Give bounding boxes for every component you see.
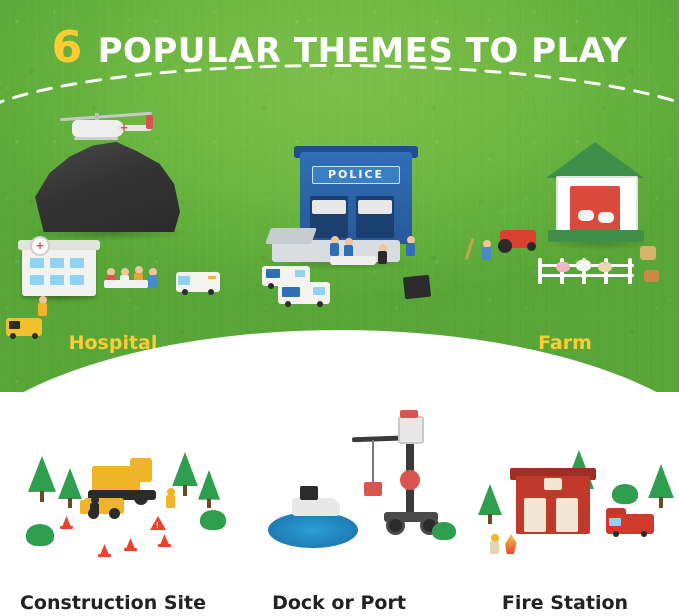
toy-boat (292, 498, 340, 516)
helicopter-body (72, 120, 124, 137)
hospital-window (50, 275, 64, 285)
toy-goat (598, 262, 612, 272)
toy-tree (198, 470, 220, 508)
hospital-stretcher (104, 280, 148, 288)
toy-boat-cabin (300, 486, 318, 500)
hospital-building (22, 248, 96, 296)
toy-bush (612, 484, 638, 504)
hospital-window (70, 258, 84, 268)
toy-bush (200, 510, 226, 530)
traffic-cone-base (124, 548, 137, 551)
traffic-cone-base (98, 554, 111, 557)
ambulance-van (176, 272, 220, 292)
traffic-cone-base (60, 526, 73, 529)
crane-hook (364, 482, 382, 496)
toy-figure (38, 296, 47, 316)
fire-truck (606, 514, 654, 534)
toy-tree (478, 484, 502, 524)
barn-door (570, 186, 620, 234)
barn-base (548, 230, 644, 242)
crane-operator-cab (398, 416, 424, 444)
crane-cab-roof (400, 410, 418, 418)
headline-text: POPULAR THEMES TO PLAY (98, 31, 628, 71)
crane-wheel (386, 516, 405, 535)
police-van (278, 282, 330, 304)
crane-counterweight (400, 470, 420, 490)
helicopter-skid (74, 137, 118, 140)
toy-dog (644, 270, 659, 282)
toy-horse (640, 246, 656, 260)
police-crate (403, 275, 431, 300)
theme-label-construction-site: Construction Site (0, 592, 226, 614)
toy-sheep (576, 260, 591, 271)
police-barrier (330, 256, 376, 265)
toy-figure (148, 268, 157, 288)
toy-figure-worker (166, 488, 175, 508)
toy-tractor (500, 230, 536, 248)
police-sign: POLICE (312, 166, 400, 184)
toy-figure-police (378, 244, 387, 264)
fire-station-bay-door (524, 498, 546, 532)
page-title: 6 POPULAR THEMES TO PLAY (0, 22, 679, 73)
hospital-window (30, 275, 44, 285)
toy-pig (556, 262, 570, 272)
hospital-window (30, 258, 44, 268)
hospital-window (50, 258, 64, 268)
toy-figure-firefighter (490, 534, 499, 554)
warning-sign-label: ! (156, 521, 159, 530)
toy-figure-police (406, 236, 415, 256)
toy-figure-police (330, 236, 339, 256)
medical-cross-icon: + (118, 122, 130, 134)
toy-bush (26, 524, 54, 546)
hospital-cross-icon: + (30, 236, 50, 256)
traffic-cone-base (158, 544, 171, 547)
headline-number: 6 (52, 22, 98, 73)
police-station-ramp (265, 228, 317, 244)
product-lifestyle-image: + + (0, 0, 679, 616)
theme-label-dock-or-port: Dock or Port (226, 592, 452, 614)
toy-tree (28, 456, 56, 502)
toy-figure-worker (90, 496, 99, 516)
toy-sheep (598, 212, 614, 223)
toy-tree (648, 464, 674, 508)
toy-sheep (578, 210, 594, 221)
toy-figure-police (344, 238, 353, 258)
helicopter-tail-fin (146, 115, 153, 129)
hospital-window (70, 275, 84, 285)
crane-hook-line (372, 440, 374, 484)
toy-tree (172, 452, 198, 496)
fire-station-window (544, 478, 562, 490)
dock-water (268, 512, 358, 548)
fire-station-bay-door (556, 498, 578, 532)
dump-truck-cab (130, 458, 152, 482)
toy-bush (432, 522, 456, 540)
police-bay-shutter (358, 200, 392, 214)
police-bay-shutter (312, 200, 346, 214)
theme-label-fire-station: Fire Station (452, 592, 678, 614)
toy-tree (58, 468, 82, 508)
toy-figure-farmer (482, 240, 491, 260)
